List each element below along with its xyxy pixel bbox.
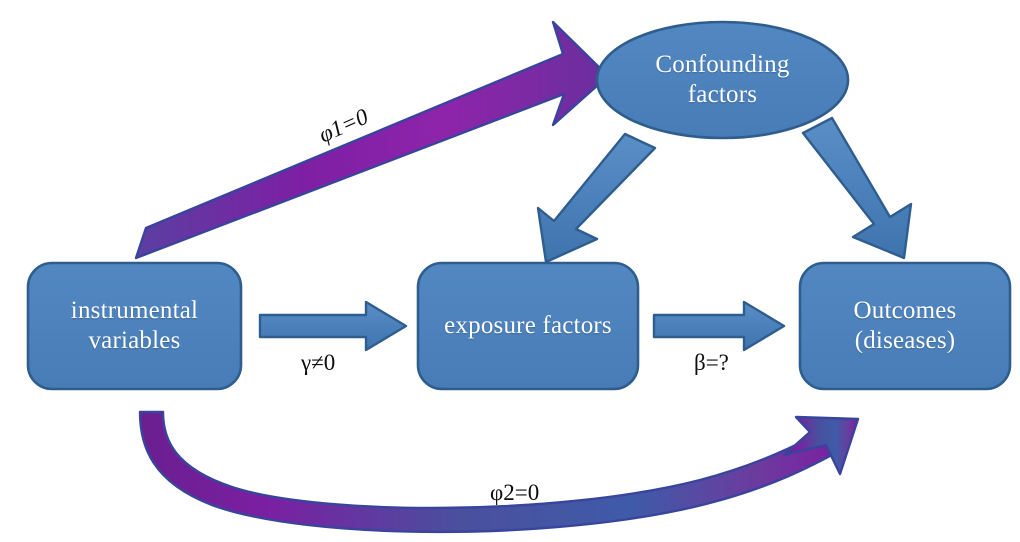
node-confounding-factors[interactable]: [597, 22, 848, 138]
node-outcomes-diseases[interactable]: [800, 263, 1010, 389]
arrow-iv-exposure: [260, 302, 406, 350]
arrow-confounding-outcomes: [803, 118, 911, 258]
edge-iv-to-confounding: [136, 22, 608, 258]
arrow-exposure-outcomes: [654, 302, 784, 350]
arrow-confounding-exposure: [538, 134, 655, 262]
diagram-canvas: [0, 0, 1020, 542]
edge-confounding-to-outcomes: [803, 118, 911, 258]
edge-label-gamma: γ≠0: [301, 350, 335, 376]
edge-iv-to-exposure: [260, 302, 406, 350]
node-instrumental-variables[interactable]: [28, 263, 241, 389]
node-exposure-factors[interactable]: [418, 263, 638, 389]
edge-label-beta: β=?: [694, 350, 729, 376]
curved-arrow-body: [140, 412, 843, 532]
edge-iv-to-outcomes-curved: [140, 412, 858, 532]
causal-diagram: instrumental variables exposure factors …: [0, 0, 1020, 542]
edge-exposure-to-outcomes: [654, 302, 784, 350]
diagonal-arrow-violet: [136, 22, 608, 258]
edge-label-phi2: φ2=0: [490, 480, 539, 506]
edge-confounding-to-exposure: [538, 134, 655, 262]
